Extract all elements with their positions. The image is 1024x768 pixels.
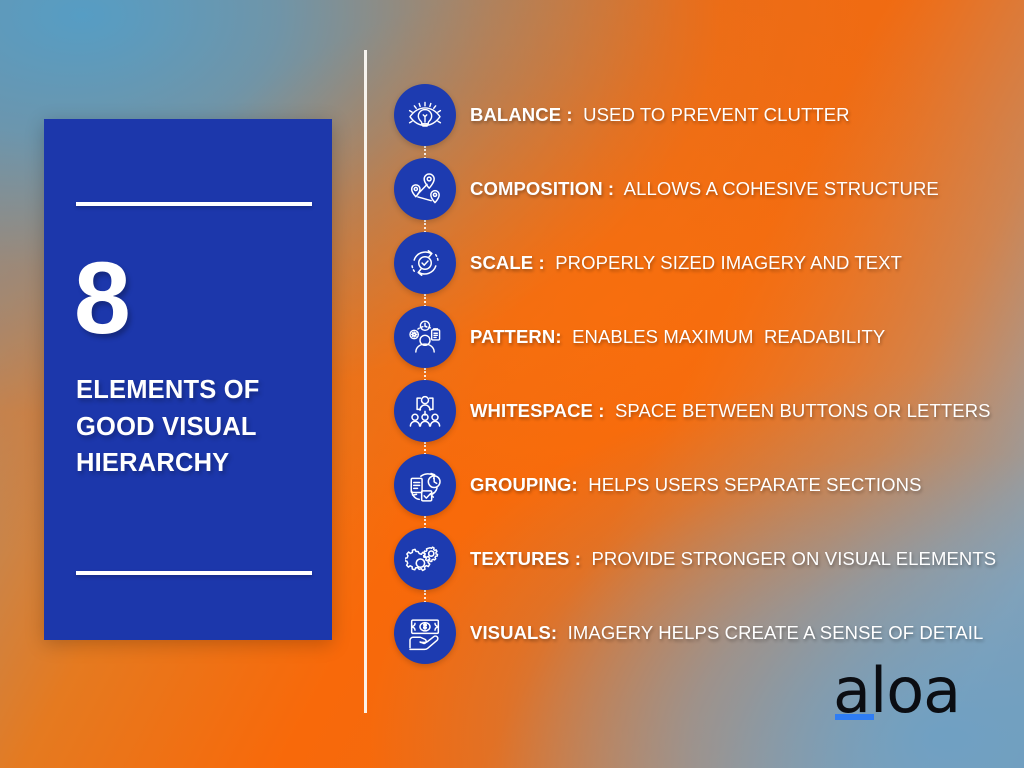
- count-number: 8: [74, 247, 130, 349]
- list-item-term: TEXTURES :: [470, 548, 581, 569]
- page-title: ELEMENTS OF GOOD VISUAL HIERARCHY: [76, 372, 312, 482]
- person-tasks-icon: [405, 317, 445, 357]
- badge-pattern: [394, 306, 456, 368]
- badge-grouping: [394, 454, 456, 516]
- list-item-term: WHITESPACE :: [470, 400, 604, 421]
- logo-accent-underline: [835, 714, 874, 720]
- badge-composition: [394, 158, 456, 220]
- badge-balance: [394, 84, 456, 146]
- brand-logo: aloa: [833, 660, 983, 726]
- infographic-slide: 8 ELEMENTS OF GOOD VISUAL HIERARCHY BALA…: [0, 0, 1024, 768]
- list-item-text: VISUALS: IMAGERY HELPS CREATE A SENSE OF…: [470, 622, 983, 644]
- badge-textures: [394, 528, 456, 590]
- badge-scale: [394, 232, 456, 294]
- map-pins-network-icon: [405, 169, 445, 209]
- title-card: 8 ELEMENTS OF GOOD VISUAL HIERARCHY: [44, 119, 332, 640]
- title-rule-top: [76, 202, 312, 206]
- list-item-term: SCALE :: [470, 252, 545, 273]
- list-item-description: PROPERLY SIZED IMAGERY AND TEXT: [550, 252, 902, 273]
- list-item-term: PATTERN:: [470, 326, 562, 347]
- list-item-description: PROVIDE STRONGER ON VISUAL ELEMENTS: [586, 548, 996, 569]
- title-line-3: HIERARCHY: [76, 445, 312, 482]
- list-item: WHITESPACE : SPACE BETWEEN BUTTONS OR LE…: [394, 374, 1014, 448]
- eye-lightbulb-icon: [405, 95, 445, 135]
- list-item-description: ALLOWS A COHESIVE STRUCTURE: [619, 178, 938, 199]
- elements-list: BALANCE : USED TO PREVENT CLUTTER COMPOS…: [394, 78, 1014, 670]
- list-item-term: VISUALS:: [470, 622, 557, 643]
- list-item: TEXTURES : PROVIDE STRONGER ON VISUAL EL…: [394, 522, 1014, 596]
- list-item-text: COMPOSITION : ALLOWS A COHESIVE STRUCTUR…: [470, 178, 939, 200]
- list-item-text: GROUPING: HELPS USERS SEPARATE SECTIONS: [470, 474, 922, 496]
- list-item-text: PATTERN: ENABLES MAXIMUM READABILITY: [470, 326, 885, 348]
- logo-wordmark: aloa: [833, 660, 983, 722]
- team-hierarchy-icon: [405, 391, 445, 431]
- list-item-text: SCALE : PROPERLY SIZED IMAGERY AND TEXT: [470, 252, 902, 274]
- gears-icon: [405, 539, 445, 579]
- title-line-2: GOOD VISUAL: [76, 409, 312, 446]
- list-item-description: SPACE BETWEEN BUTTONS OR LETTERS: [610, 400, 991, 421]
- list-item-term: GROUPING:: [470, 474, 578, 495]
- badge-whitespace: [394, 380, 456, 442]
- list-item-description: HELPS USERS SEPARATE SECTIONS: [583, 474, 921, 495]
- hand-money-icon: [405, 613, 445, 653]
- list-item-term: COMPOSITION :: [470, 178, 614, 199]
- list-item-text: WHITESPACE : SPACE BETWEEN BUTTONS OR LE…: [470, 400, 991, 422]
- list-item: SCALE : PROPERLY SIZED IMAGERY AND TEXT: [394, 226, 1014, 300]
- list-item-description: ENABLES MAXIMUM READABILITY: [567, 326, 886, 347]
- list-item: COMPOSITION : ALLOWS A COHESIVE STRUCTUR…: [394, 152, 1014, 226]
- list-item-text: TEXTURES : PROVIDE STRONGER ON VISUAL EL…: [470, 548, 996, 570]
- refresh-check-icon: [405, 243, 445, 283]
- title-rule-bottom: [76, 571, 312, 575]
- list-item-description: USED TO PREVENT CLUTTER: [578, 104, 850, 125]
- document-clock-checkbox-icon: [405, 465, 445, 505]
- badge-visuals: [394, 602, 456, 664]
- title-line-1: ELEMENTS OF: [76, 372, 312, 409]
- list-item: BALANCE : USED TO PREVENT CLUTTER: [394, 78, 1014, 152]
- list-item-description: IMAGERY HELPS CREATE A SENSE OF DETAIL: [562, 622, 983, 643]
- list-item-text: BALANCE : USED TO PREVENT CLUTTER: [470, 104, 850, 126]
- list-item-term: BALANCE :: [470, 104, 573, 125]
- vertical-divider: [364, 50, 367, 713]
- list-item: PATTERN: ENABLES MAXIMUM READABILITY: [394, 300, 1014, 374]
- list-item: GROUPING: HELPS USERS SEPARATE SECTIONS: [394, 448, 1014, 522]
